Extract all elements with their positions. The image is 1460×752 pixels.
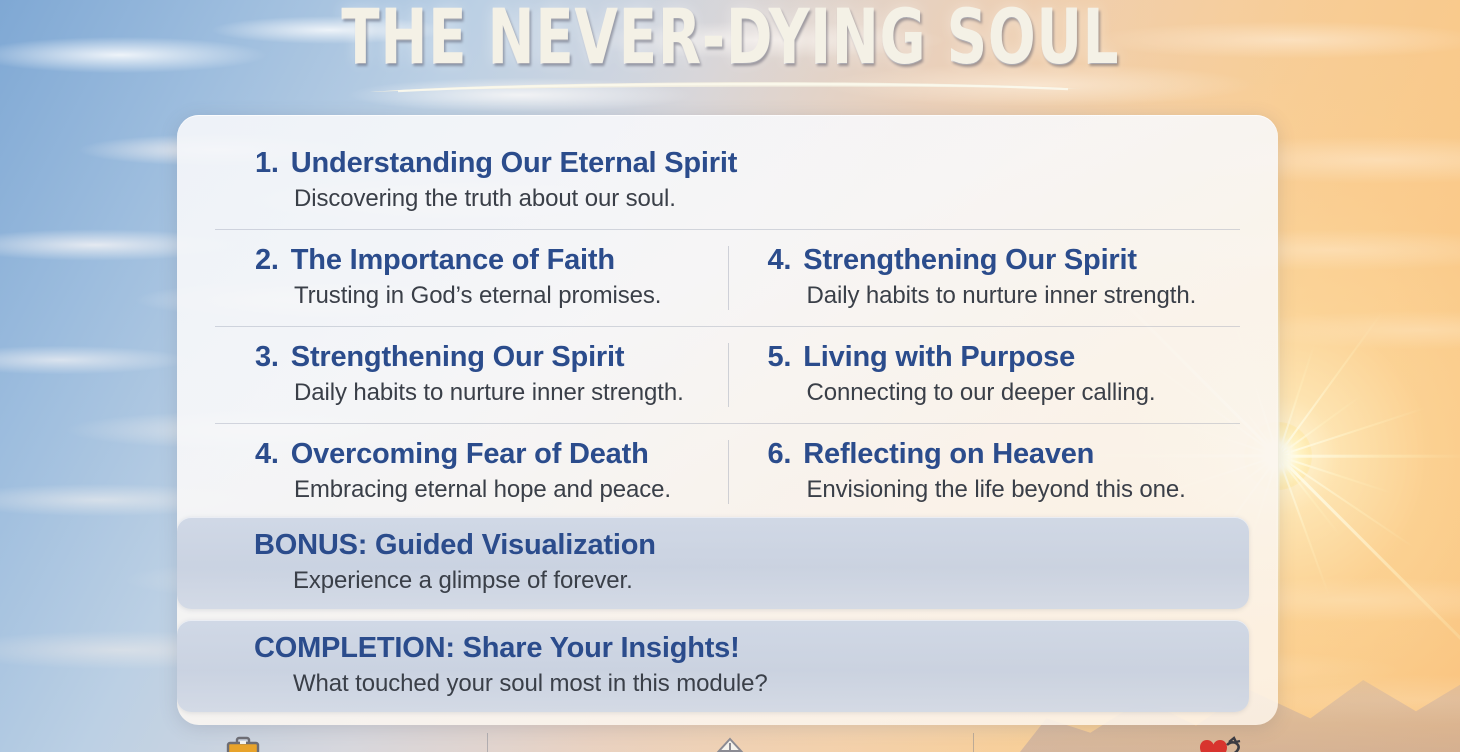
module-item-title: The Importance of Faith (291, 244, 615, 277)
column-divider (728, 440, 729, 504)
briefcase-icon (220, 735, 266, 752)
bonus-band-title: BONUS: Guided Visualization (254, 529, 1249, 562)
module-item-5[interactable]: 5. Living with Purpose Connecting to our… (728, 327, 1241, 423)
module-item-heading: 1. Understanding Our Eternal Spirit (255, 147, 1232, 180)
module-items-grid: 1. Understanding Our Eternal Spirit Disc… (177, 115, 1278, 520)
module-item-subtitle: Embracing eternal hope and peace. (294, 476, 720, 504)
module-item-heading: 5. Living with Purpose (768, 341, 1233, 374)
bottom-strip-cell-3[interactable] (973, 731, 1460, 752)
bonus-band-subtitle: Experience a glimpse of forever. (293, 567, 1249, 595)
module-row: 4. Overcoming Fear of Death Embracing et… (215, 423, 1240, 520)
module-item-number: 3. (255, 341, 279, 374)
completion-band-subtitle: What touched your soul most in this modu… (293, 670, 1249, 698)
module-row: 3. Strengthening Our Spirit Daily habits… (215, 326, 1240, 423)
page-title: THE NEVER-DYING SOUL (341, 0, 1119, 80)
module-item-6[interactable]: 6. Reflecting on Heaven Envisioning the … (728, 424, 1241, 520)
module-item-subtitle: Daily habits to nurture inner strength. (807, 282, 1233, 310)
bottom-strip-cell-1[interactable] (0, 731, 487, 752)
heart-icon (1189, 735, 1245, 752)
module-item-number: 6. (768, 438, 792, 471)
module-item-heading: 2. The Importance of Faith (255, 244, 720, 277)
bottom-icon-strip (0, 731, 1460, 752)
module-item-title: Overcoming Fear of Death (291, 438, 649, 471)
bonus-band[interactable]: BONUS: Guided Visualization Experience a… (177, 517, 1249, 609)
module-item-subtitle: Connecting to our deeper calling. (807, 379, 1233, 407)
completion-band-title: COMPLETION: Share Your Insights! (254, 632, 1249, 665)
module-item-1[interactable]: 1. Understanding Our Eternal Spirit Disc… (215, 133, 1240, 229)
dove-icon (710, 735, 750, 752)
module-outline-card: 1. Understanding Our Eternal Spirit Disc… (177, 115, 1278, 725)
module-item-title: Reflecting on Heaven (803, 438, 1094, 471)
module-item-heading: 3. Strengthening Our Spirit (255, 341, 720, 374)
completion-band[interactable]: COMPLETION: Share Your Insights! What to… (177, 620, 1249, 712)
column-divider (728, 246, 729, 310)
module-item-4-left[interactable]: 4. Overcoming Fear of Death Embracing et… (215, 424, 728, 520)
module-item-3[interactable]: 3. Strengthening Our Spirit Daily habits… (215, 327, 728, 423)
module-item-number: 1. (255, 147, 279, 180)
module-item-number: 4. (768, 244, 792, 277)
module-item-number: 5. (768, 341, 792, 374)
module-item-number: 2. (255, 244, 279, 277)
module-item-4-right[interactable]: 4. Strengthening Our Spirit Daily habits… (728, 230, 1241, 326)
module-item-title: Living with Purpose (803, 341, 1075, 374)
module-item-number: 4. (255, 438, 279, 471)
module-item-2[interactable]: 2. The Importance of Faith Trusting in G… (215, 230, 728, 326)
module-item-heading: 4. Overcoming Fear of Death (255, 438, 720, 471)
module-row: 1. Understanding Our Eternal Spirit Disc… (215, 133, 1240, 229)
title-underline-swoosh (368, 76, 1084, 96)
poster-title-area: THE NEVER-DYING SOUL (0, 0, 1460, 80)
module-item-title: Understanding Our Eternal Spirit (291, 147, 737, 180)
module-item-subtitle: Discovering the truth about our soul. (294, 185, 1232, 213)
module-item-subtitle: Trusting in God’s eternal promises. (294, 282, 720, 310)
module-item-title: Strengthening Our Spirit (291, 341, 625, 374)
module-row: 2. The Importance of Faith Trusting in G… (215, 229, 1240, 326)
module-item-subtitle: Envisioning the life beyond this one. (807, 476, 1233, 504)
module-item-heading: 6. Reflecting on Heaven (768, 438, 1233, 471)
module-item-subtitle: Daily habits to nurture inner strength. (294, 379, 720, 407)
poster-canvas: THE NEVER-DYING SOUL 1. Understanding Ou… (0, 0, 1460, 752)
module-item-heading: 4. Strengthening Our Spirit (768, 244, 1233, 277)
column-divider (728, 343, 729, 407)
module-item-title: Strengthening Our Spirit (803, 244, 1137, 277)
bottom-strip-cell-2[interactable] (487, 731, 974, 752)
